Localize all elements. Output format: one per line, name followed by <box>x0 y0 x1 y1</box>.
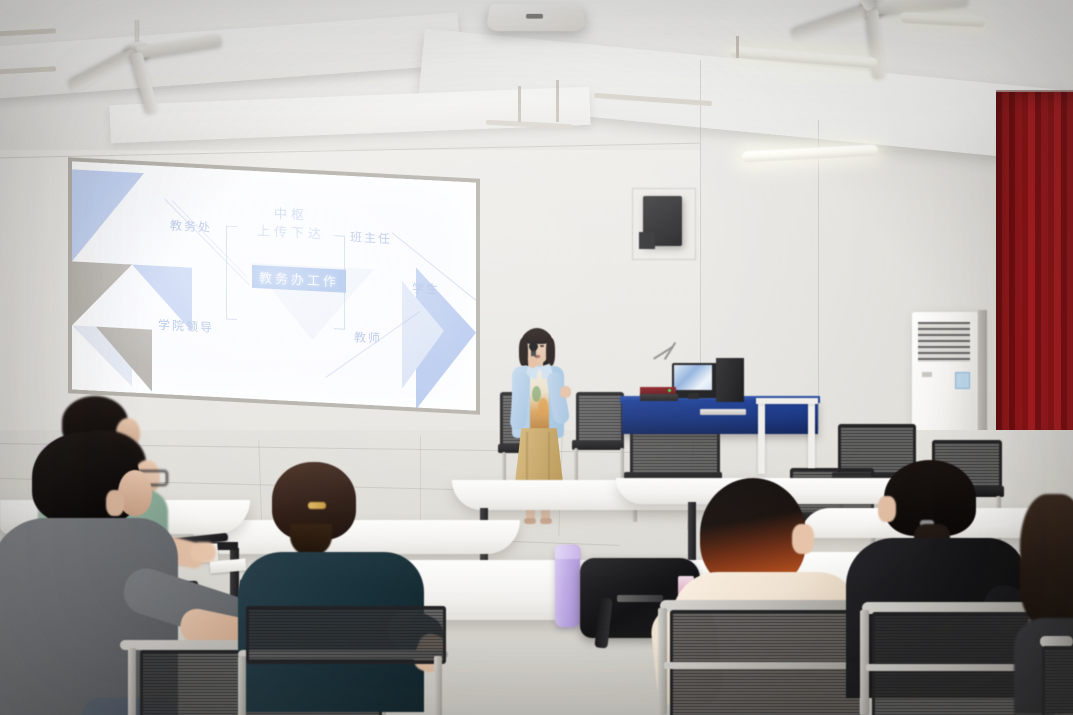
media-box <box>640 394 678 401</box>
light-hanger <box>736 36 739 58</box>
hair-clip <box>308 502 326 509</box>
air-conditioner-grille <box>918 322 970 362</box>
presenter-hand <box>560 386 571 398</box>
slide-node-academic-affairs: 教务处 <box>170 217 212 236</box>
slide-center-title: 教务办工作 <box>252 265 346 293</box>
table-leg <box>688 502 696 564</box>
slide-top-label: 中枢 上传下达 <box>232 204 350 245</box>
ear <box>878 496 896 522</box>
classroom-photo: 中枢 上传下达 教务处 班主任 学院领导 教师 学生 教务办工作 <box>0 0 1073 715</box>
status-led-icon <box>668 389 671 392</box>
projection-screen: 中枢 上传下达 教务处 班主任 学院领导 教师 学生 教务办工作 <box>72 161 476 410</box>
slide-bracket-left <box>226 225 237 320</box>
podium-leg <box>758 400 765 474</box>
desktop-tower <box>716 358 744 402</box>
slide-node-college-leadership: 学院领导 <box>158 316 214 336</box>
ear <box>106 490 124 516</box>
ear <box>792 524 814 554</box>
podium-leg <box>808 400 815 468</box>
slide-node-class-teacher: 班主任 <box>350 228 392 247</box>
podium-leg-rail <box>756 398 818 404</box>
air-conditioner-sticker <box>955 372 970 389</box>
slide-node-students: 学生 <box>412 279 440 297</box>
light-hanger <box>556 80 559 122</box>
monitor-stand <box>688 393 699 399</box>
monitor-screen <box>674 365 712 390</box>
air-conditioner-logo <box>922 372 932 377</box>
slide-node-teachers: 教师 <box>354 328 382 346</box>
light-hanger <box>518 86 521 122</box>
keyboard <box>700 409 746 415</box>
speaker-bracket <box>639 232 655 249</box>
table <box>190 520 520 554</box>
podium-desk <box>622 400 818 434</box>
projector-icon <box>485 4 586 31</box>
red-curtain <box>996 92 1073 460</box>
wall-seam <box>818 120 819 460</box>
backpack-zipper <box>617 595 663 602</box>
microphone-head-icon <box>529 342 538 351</box>
presenter-hand <box>528 356 537 368</box>
thermos-cap <box>555 545 580 559</box>
